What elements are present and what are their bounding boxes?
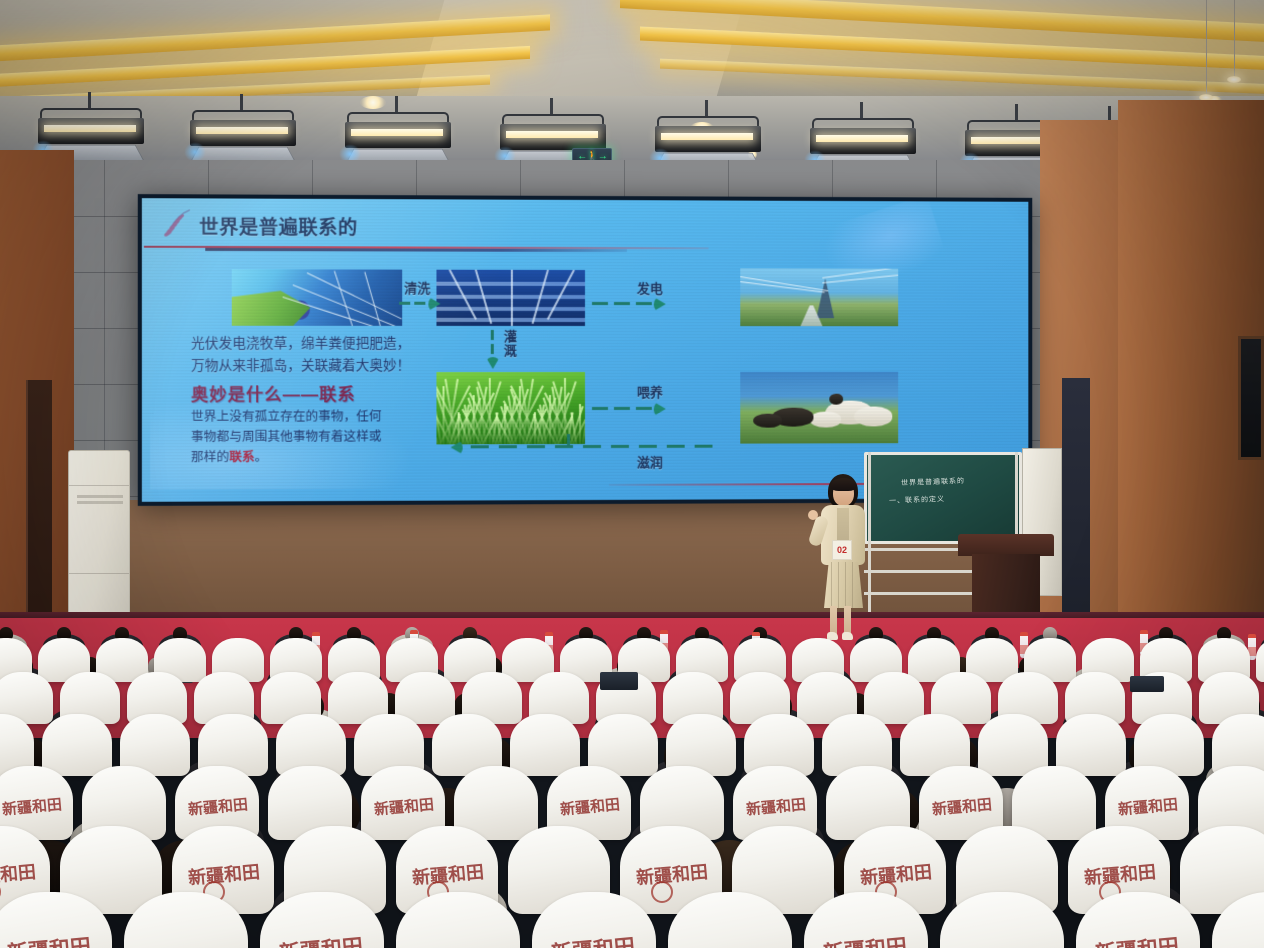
stage-light-fixture bbox=[810, 114, 916, 164]
slide-body-line-3: 那样的联系。 bbox=[191, 447, 267, 468]
wheat-sprig-icon bbox=[160, 206, 195, 243]
stage-light-fixture bbox=[655, 112, 761, 162]
audience-seat[interactable] bbox=[978, 714, 1048, 776]
podium-top bbox=[958, 534, 1054, 556]
seat-cover-text: 新疆和田 bbox=[559, 793, 621, 819]
seat-cover-text: 新疆和田 bbox=[931, 793, 993, 819]
seat-cover-text: 新疆和田 bbox=[6, 931, 92, 948]
flow-label-moisten: 滋润 bbox=[637, 452, 663, 471]
presenter: 02 bbox=[812, 474, 876, 646]
seat-cover-text: 新疆和田 bbox=[411, 858, 485, 890]
seat-cover-text: 新疆和田 bbox=[550, 931, 636, 948]
audience-seat[interactable] bbox=[42, 714, 112, 776]
seat-cover-text: 新疆和田 bbox=[278, 931, 364, 948]
seat-cover-text: 新疆和田 bbox=[187, 858, 261, 890]
slide-body-line-2: 事物都与周围其他事物有着这样或 bbox=[191, 426, 382, 447]
slide-body-line-3-post: 。 bbox=[255, 450, 268, 464]
slide-image-transmission-tower bbox=[740, 268, 898, 326]
presenter-skirt bbox=[824, 562, 863, 608]
flow-label-wash: 清洗 bbox=[404, 278, 430, 297]
grass-blade bbox=[579, 404, 581, 445]
slide-poem-line-2: 万物从来非孤岛，关联藏着大奥妙！ bbox=[191, 356, 410, 377]
slide-image-worker-cleaning-panels bbox=[232, 269, 402, 326]
seat-cover-text: 新疆和田 bbox=[1117, 793, 1179, 819]
flow-arrow-moisten bbox=[447, 444, 865, 445]
seat-cover-text: 新疆和田 bbox=[0, 858, 37, 890]
seat-cover-text: 新疆和田 bbox=[822, 931, 908, 948]
slide-image-solar-panel-farm bbox=[436, 270, 585, 326]
seat-cover-text: 新疆和田 bbox=[859, 858, 933, 890]
stage-light-fixture bbox=[190, 106, 296, 156]
seat-cover-text: 新疆和田 bbox=[1083, 858, 1157, 890]
floor-standing-air-conditioner bbox=[68, 450, 130, 632]
blackboard: 世界是普遍联系的 一、联系的定义 bbox=[864, 452, 1022, 544]
wall-mounted-display bbox=[1238, 336, 1264, 460]
slide-body-line-1: 世界上没有孤立存在的事物，任何 bbox=[191, 406, 382, 427]
slide-image-grazing-sheep bbox=[740, 372, 898, 444]
seat-cover-text: 新疆和田 bbox=[745, 793, 807, 819]
seat-cover-text: 新疆和田 bbox=[187, 793, 249, 819]
seat-cover-text: 新疆和田 bbox=[373, 793, 435, 819]
stage-light-fixture bbox=[38, 104, 144, 154]
pendant-light bbox=[1227, 76, 1241, 83]
seat-cover-text: 新疆和田 bbox=[635, 858, 709, 890]
audience-seat[interactable] bbox=[510, 714, 580, 776]
slide-key-line: 奥妙是什么——联系 bbox=[191, 380, 356, 405]
seat-cover-text: 新疆和田 bbox=[1094, 931, 1180, 948]
slide-title: 世界是普遍联系的 bbox=[199, 213, 358, 241]
blackboard-chalk-line-1: 世界是普遍联系的 bbox=[901, 476, 965, 488]
flow-label-power: 发电 bbox=[637, 278, 663, 297]
seat-cover-text: 新疆和田 bbox=[1, 793, 63, 819]
attendee-laptop bbox=[600, 672, 638, 690]
presenter-fringe bbox=[831, 478, 856, 491]
pendant-wire bbox=[1206, 0, 1207, 96]
presenter-number-badge: 02 bbox=[832, 540, 852, 560]
flow-label-irrigate: 灌溉 bbox=[504, 330, 518, 359]
attendee-laptop bbox=[1130, 676, 1164, 692]
seat-cover-seal bbox=[651, 881, 674, 904]
audience-seating: 新疆和田新疆和田新疆和田新疆和田新疆和田新疆和田新疆和田新疆和田新疆和田新疆和田… bbox=[0, 630, 1264, 948]
flow-label-feed: 喂养 bbox=[637, 382, 663, 401]
stage-light-fixture bbox=[345, 108, 451, 158]
slide-image-green-pasture-grass bbox=[436, 372, 585, 444]
title-rule-dark bbox=[205, 248, 627, 252]
slide-poem-line-1: 光伏发电浇牧草，绵羊粪便把肥造， bbox=[191, 334, 410, 355]
audience-seat[interactable] bbox=[1256, 638, 1264, 682]
slide-body-line-3-pre: 那样的 bbox=[191, 450, 229, 464]
pendant-wire bbox=[1234, 0, 1235, 78]
slide-body-highlight: 联系 bbox=[229, 450, 254, 464]
blackboard-chalk-line-2: 一、联系的定义 bbox=[889, 494, 945, 506]
presenter-hand bbox=[808, 510, 818, 520]
lecture-hall-scene: ←🚶→ 世界是普遍联系的 bbox=[0, 0, 1264, 948]
